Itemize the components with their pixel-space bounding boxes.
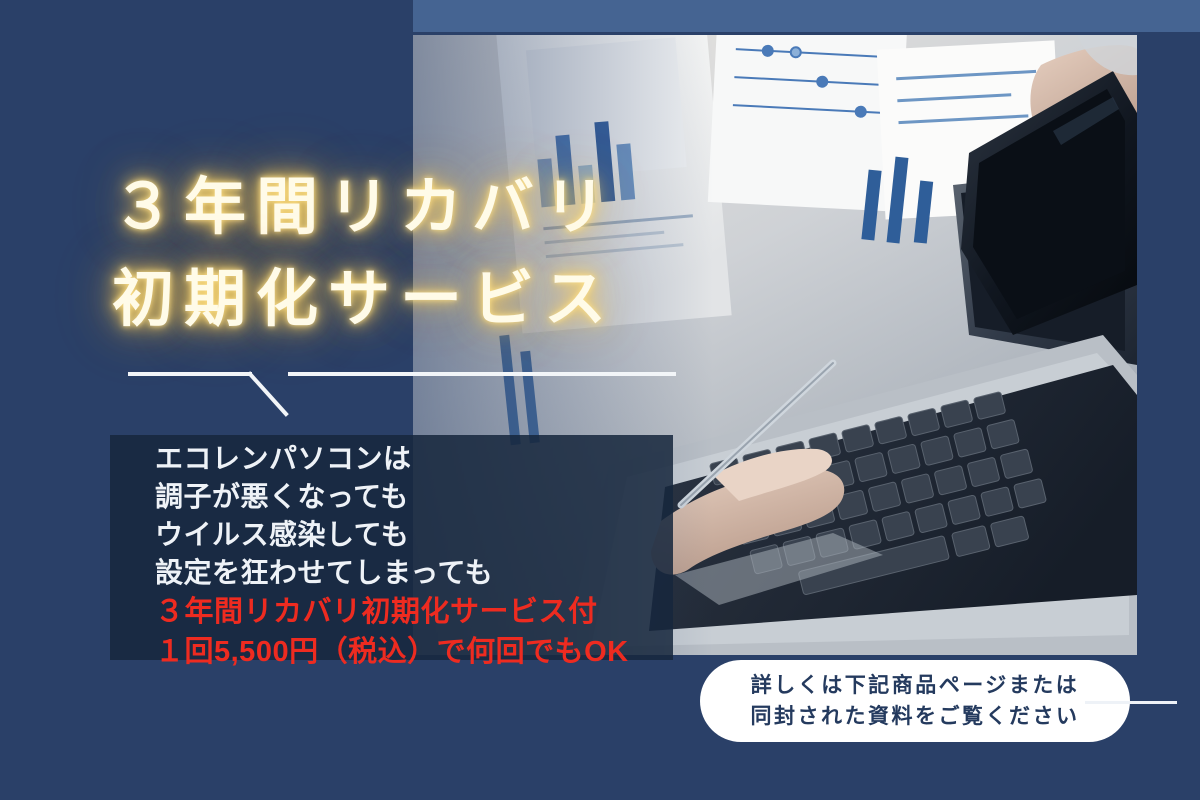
callout-line-1: 詳しくは下記商品ページまたは bbox=[751, 670, 1080, 701]
promotional-banner: ３年間リカバリ 初期化サービス エコレンパソコンは 調子が悪くなっても ウイルス… bbox=[0, 0, 1200, 800]
body-copy: エコレンパソコンは 調子が悪くなっても ウイルス感染しても 設定を狂わせてしまっ… bbox=[155, 440, 695, 672]
body-line-6-price: １回5,500円（税込）で何回でもOK bbox=[155, 632, 695, 672]
info-callout[interactable]: 詳しくは下記商品ページまたは 同封された資料をご覧ください bbox=[700, 660, 1130, 742]
callout-line-2: 同封された資料をご覧ください bbox=[751, 701, 1080, 732]
body-line-5-highlight: ３年間リカバリ初期化サービス付 bbox=[155, 592, 695, 632]
divider-svg bbox=[110, 358, 690, 428]
divider-diagonal bbox=[250, 374, 286, 414]
headline: ３年間リカバリ 初期化サービス bbox=[112, 162, 912, 346]
divider-rule bbox=[110, 358, 690, 428]
body-line-3: ウイルス感染しても bbox=[155, 516, 695, 554]
body-line-1: エコレンパソコンは bbox=[155, 440, 695, 478]
headline-line-1: ３年間リカバリ bbox=[112, 162, 912, 254]
headline-line-2: 初期化サービス bbox=[112, 254, 912, 346]
body-line-2: 調子が悪くなっても bbox=[155, 478, 695, 516]
body-line-4: 設定を狂わせてしまっても bbox=[155, 554, 695, 592]
callout-pointer-rule bbox=[1085, 701, 1177, 704]
